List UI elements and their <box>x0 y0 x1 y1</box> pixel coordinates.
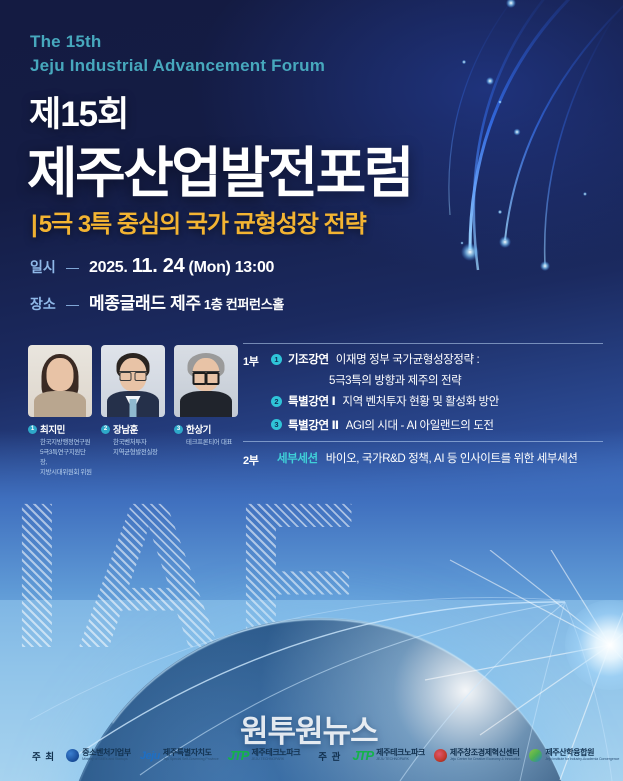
jtp-wordmark-icon: JTP <box>228 748 249 763</box>
place-value: 메종글래드 제주1층 컨퍼런스홀 <box>89 289 284 314</box>
jtp-wordmark-icon: JTP <box>352 748 373 763</box>
date-suffix: (Mon) 13:00 <box>184 259 274 276</box>
program-item-text: 특별강연 ⅡAGI의 시대 - AI 아일랜드의 도전 <box>288 418 494 435</box>
logo-name-en: JEJU TECHNOPARK <box>376 758 425 762</box>
program-item-text: 특별강연 Ⅰ지역 벤처투자 현황 및 활성화 방안 <box>288 394 499 411</box>
date-value: 2025. 11. 24 (Mon) 13:00 <box>89 255 274 278</box>
program-item-number: 2 <box>271 396 282 407</box>
shoulders-shape <box>180 391 232 417</box>
speaker-photo <box>28 345 92 417</box>
speaker-name-row: 2 장남훈 <box>101 422 165 436</box>
logo-name-en: Jeju Institute for Industry-Academia Con… <box>545 758 619 762</box>
logo-name-en: Jeju Center for Creative Economy & Innov… <box>450 758 520 762</box>
subtitle-text: 5극 3특 중심의 국가 균형성장 전략 <box>39 211 366 238</box>
jeju-wordmark-icon: Jeju <box>140 750 160 762</box>
speaker-card: 3 한상기 테크프론티어 대표 <box>174 345 238 478</box>
program-item-title: 지역 벤처투자 현황 및 활성화 방안 <box>342 396 499 408</box>
program-item-kind: 특별강연 Ⅰ <box>288 396 335 408</box>
part1-label: 1부 <box>243 352 271 435</box>
program-item-number: 1 <box>271 354 282 365</box>
venue-hall: 1층 컨퍼런스홀 <box>204 297 284 312</box>
logo-jeju-technopark-organizer: JTP 제주테크노파크 JEJU TECHNOPARK <box>352 748 425 763</box>
speaker-name: 최지민 <box>40 422 65 436</box>
forum-eyebrow: The 15th Jeju Industrial Advancement For… <box>30 30 325 78</box>
face-shape <box>47 358 74 391</box>
speaker-name: 장남훈 <box>113 422 138 436</box>
footer-logos: 주 최 중소벤처기업부 Ministry of SMEs and Startup… <box>0 748 623 763</box>
ccei-emblem-icon <box>434 749 447 762</box>
speaker-name-row: 1 최지민 <box>28 422 92 436</box>
ministry-emblem-icon <box>66 749 79 762</box>
event-info: 일시 — 2025. 11. 24 (Mon) 13:00 장소 — 메종글래드… <box>30 255 430 325</box>
date-day: 11. 24 <box>132 255 185 277</box>
place-label: 장소 <box>30 294 64 314</box>
glasses-icon <box>193 371 220 380</box>
part2-items: 세부세션바이오, 국가R&D 정책, AI 등 인사이트를 위한 세부세션 <box>271 451 603 468</box>
host-role-label: 주 최 <box>32 749 55 763</box>
eyebrow-line-2: Jeju Industrial Advancement Forum <box>30 54 325 78</box>
program-part-1: 1부 1 기조강연이재명 정부 국가균형성장정략 : 5극3특의 방향과 제주의… <box>243 344 603 441</box>
date-label: 일시 <box>30 257 64 277</box>
logo-sme-ministry: 중소벤처기업부 Ministry of SMEs and Startups <box>66 749 131 762</box>
speaker-affiliation: 테크프론티어 대표 <box>186 438 238 448</box>
speaker-name-row: 3 한상기 <box>174 422 238 436</box>
speaker-badge: 3 <box>174 425 183 434</box>
date-prefix: 2025. <box>89 259 132 276</box>
part2-session-text: 바이오, 국가R&D 정책, AI 등 인사이트를 위한 세부세션 <box>326 453 578 465</box>
event-date-row: 일시 — 2025. 11. 24 (Mon) 13:00 <box>30 255 430 278</box>
venue-name: 메종글래드 제주 <box>89 294 201 313</box>
program-item: 2 특별강연 Ⅰ지역 벤처투자 현황 및 활성화 방안 <box>271 394 603 411</box>
program-item-number: 3 <box>271 419 282 430</box>
program-section: 1부 1 기조강연이재명 정부 국가균형성장정략 : 5극3특의 방향과 제주의… <box>243 343 603 474</box>
subtitle-bar: | <box>31 211 37 238</box>
news-watermark: 원투원뉴스 <box>240 706 378 751</box>
place-dash: — <box>66 297 79 312</box>
program-item: 3 특별강연 ⅡAGI의 시대 - AI 아일랜드의 도전 <box>271 418 603 435</box>
poster: I A F <box>0 0 623 781</box>
program-item-title: AGI의 시대 - AI 아일랜드의 도전 <box>346 420 494 432</box>
date-dash: — <box>66 260 79 275</box>
part2-row: 세부세션바이오, 국가R&D 정책, AI 등 인사이트를 위한 세부세션 <box>277 451 603 468</box>
speaker-list: 1 최지민 한국지방행정연구원 5극3특연구지원단장, 지방시대위원회 위원 2… <box>28 345 238 478</box>
forum-subtitle: |5극 3특 중심의 국가 균형성장 전략 <box>31 204 366 239</box>
program-item-text: 기조강연이재명 정부 국가균형성장정략 : <box>288 352 479 369</box>
program-item-kind: 특별강연 Ⅱ <box>288 420 339 432</box>
speaker-photo <box>174 345 238 417</box>
speaker-affiliation: 한국벤처투자 지역균형발전실장 <box>113 438 165 458</box>
logo-jeju-technopark-host: JTP 제주테크노파크 JEJU TECHNOPARK <box>228 748 301 763</box>
program-item-kind: 기조강연 <box>288 354 329 366</box>
program-item: 1 기조강연이재명 정부 국가균형성장정략 : <box>271 352 603 369</box>
logo-name-en: Ministry of SMEs and Startups <box>82 758 131 762</box>
speaker-card: 1 최지민 한국지방행정연구원 5극3특연구지원단장, 지방시대위원회 위원 <box>28 345 92 478</box>
speaker-affiliation: 한국지방행정연구원 5극3특연구지원단장, 지방시대위원회 위원 <box>40 438 92 478</box>
speaker-badge: 2 <box>101 425 110 434</box>
program-item-subline: 5극3특의 방향과 제주의 전략 <box>329 372 603 388</box>
speaker-photo <box>101 345 165 417</box>
logo-name-en: JEJU TECHNOPARK <box>251 758 300 762</box>
forum-main-title: 제주산업발전포럼 <box>27 128 412 208</box>
event-place-row: 장소 — 메종글래드 제주1층 컨퍼런스홀 <box>30 289 430 314</box>
speaker-badge: 1 <box>28 425 37 434</box>
glasses-icon <box>120 371 147 380</box>
logo-jeju-province: Jeju 제주특별자치도 Jeju Special Self-Governing… <box>140 749 219 761</box>
logo-name-en: Jeju Special Self-Governing Province <box>163 758 219 762</box>
eyebrow-line-1: The 15th <box>30 30 325 54</box>
program-item-title: 이재명 정부 국가균형성장정략 : <box>336 354 480 366</box>
logo-jeju-ccei: 제주창조경제혁신센터 Jeju Center for Creative Econ… <box>434 749 520 762</box>
part1-items: 1 기조강연이재명 정부 국가균형성장정략 : 5극3특의 방향과 제주의 전략… <box>271 352 603 435</box>
iac-emblem-icon <box>529 749 542 762</box>
logo-jeju-iac: 제주산학융합원 Jeju Institute for Industry-Acad… <box>529 749 619 762</box>
part2-session-tag: 세부세션 <box>277 453 318 465</box>
part2-label: 2부 <box>243 451 271 468</box>
organizer-role-label: 주 관 <box>318 749 341 763</box>
speaker-name: 한상기 <box>186 422 211 436</box>
program-part-2: 2부 세부세션바이오, 국가R&D 정책, AI 등 인사이트를 위한 세부세션 <box>243 442 603 474</box>
tie-shape <box>130 399 137 417</box>
speaker-card: 2 장남훈 한국벤처투자 지역균형발전실장 <box>101 345 165 478</box>
shoulders-shape <box>34 391 86 417</box>
